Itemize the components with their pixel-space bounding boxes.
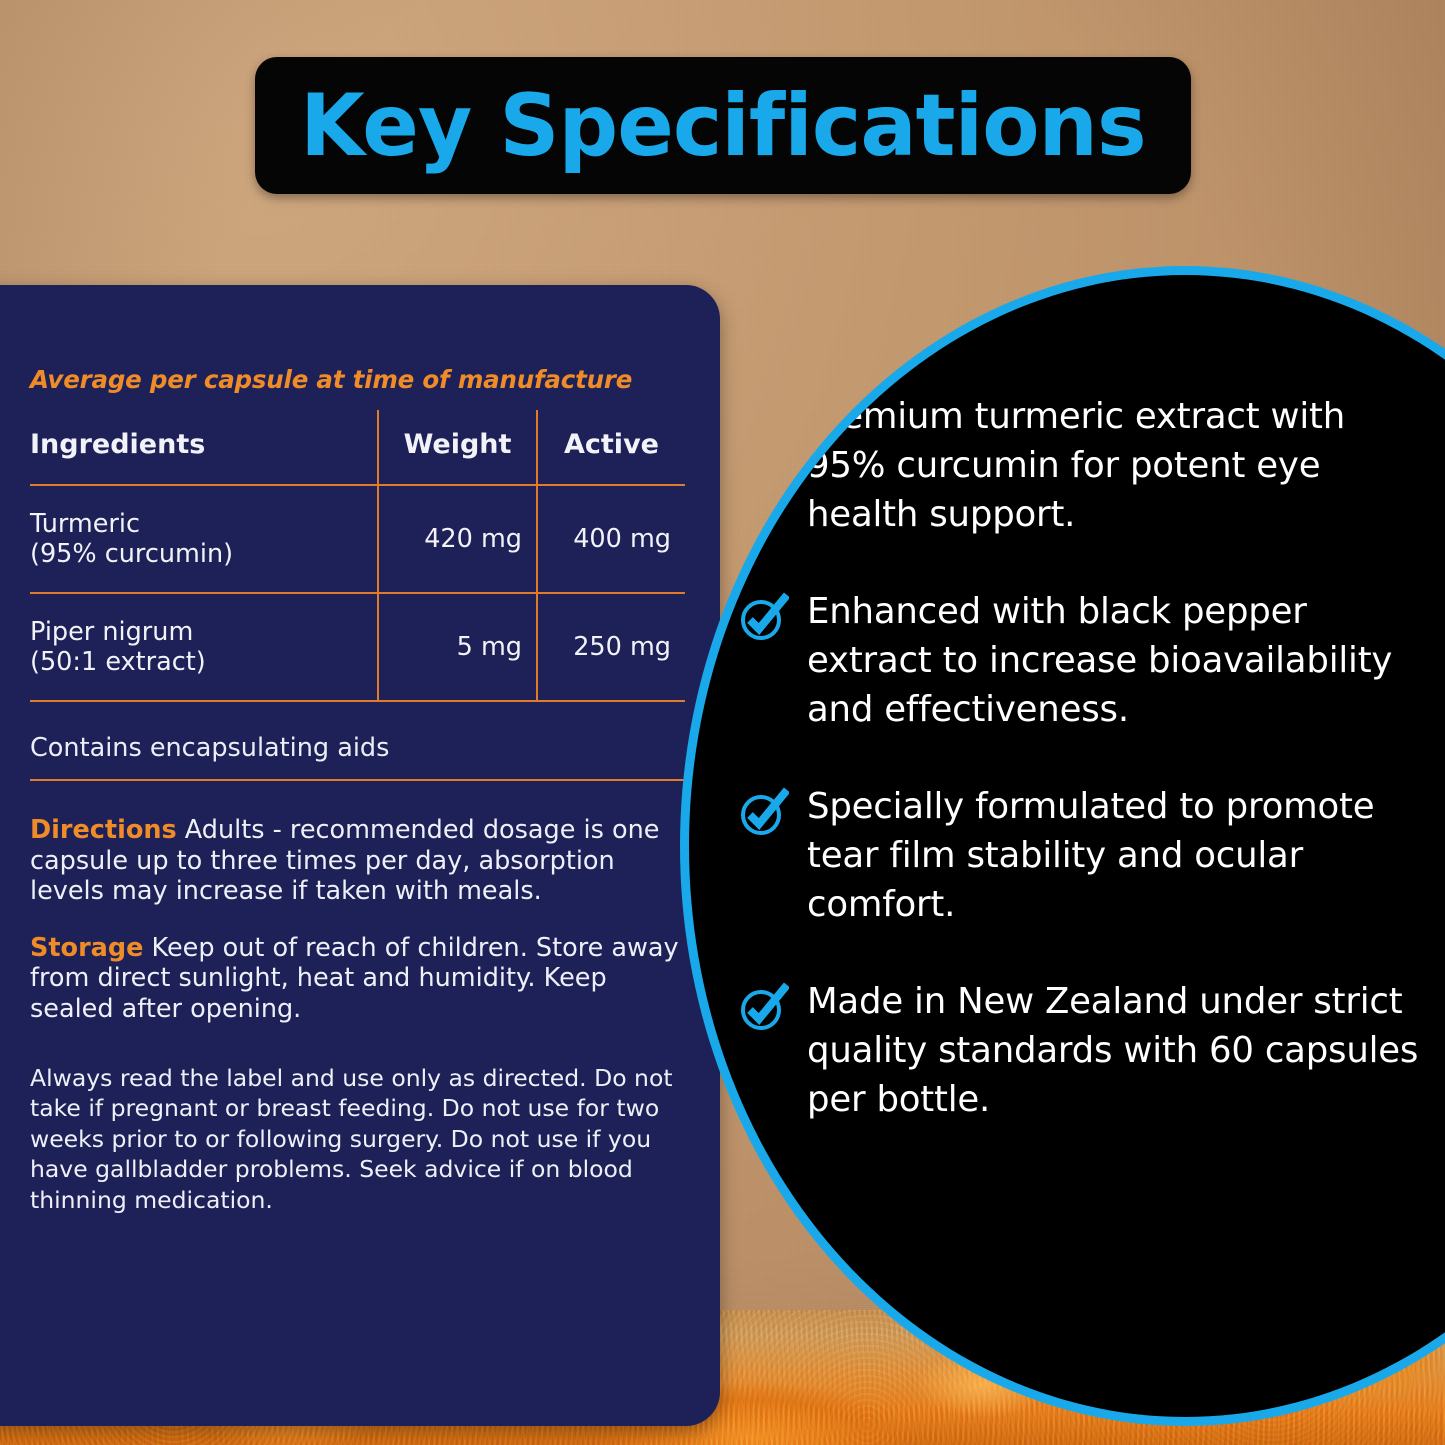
average-per-capsule-note: Average per capsule at time of manufactu…: [30, 365, 632, 394]
check-circle-icon: [737, 592, 789, 644]
warnings-paragraph: Always read the label and use only as di…: [30, 1063, 690, 1216]
storage-paragraph: Storage Keep out of reach of children. S…: [30, 933, 690, 1025]
column-header-active: Active: [537, 410, 685, 485]
cell-ingredient: Piper nigrum (50:1 extract): [30, 593, 378, 701]
ingredient-name: Turmeric: [30, 509, 140, 539]
infographic-canvas: Key Specifications Average per capsule a…: [0, 0, 1445, 1445]
ingredient-name: Piper nigrum: [30, 617, 193, 647]
cell-active: 400 mg: [537, 485, 685, 593]
check-circle-icon: [737, 982, 789, 1034]
ingredients-table: Ingredients Weight Active Turmeric (95% …: [30, 410, 685, 702]
table-row: Turmeric (95% curcumin) 420 mg 400 mg: [30, 485, 685, 593]
storage-label: Storage: [30, 933, 143, 963]
benefit-text: Specially formulated to promote tear fil…: [807, 783, 1427, 930]
directions-paragraph: Directions Adults - recommended dosage i…: [30, 815, 690, 907]
ingredient-detail: (95% curcumin): [30, 539, 377, 569]
table-header-row: Ingredients Weight Active: [30, 410, 685, 485]
table-footnote: Contains encapsulating aids: [30, 717, 685, 781]
benefit-text: Made in New Zealand under strict quality…: [807, 978, 1427, 1125]
column-header-ingredients: Ingredients: [30, 410, 378, 485]
list-item: Specially formulated to promote tear fil…: [737, 783, 1427, 930]
supplement-facts-card: Average per capsule at time of manufactu…: [0, 285, 720, 1426]
benefit-text: Enhanced with black pepper extract to in…: [807, 588, 1427, 735]
check-circle-icon: [737, 397, 789, 449]
column-header-weight: Weight: [378, 410, 537, 485]
usage-copy-block: Directions Adults - recommended dosage i…: [30, 815, 690, 1215]
header-banner: Key Specifications: [255, 57, 1191, 194]
cell-weight: 5 mg: [378, 593, 537, 701]
cell-weight: 420 mg: [378, 485, 537, 593]
supplement-facts-content: Average per capsule at time of manufactu…: [30, 285, 685, 1426]
directions-label: Directions: [30, 815, 177, 845]
benefits-list: Premium turmeric extract with 95% curcum…: [737, 393, 1427, 1125]
check-circle-icon: [737, 787, 789, 839]
table-row: Piper nigrum (50:1 extract) 5 mg 250 mg: [30, 593, 685, 701]
list-item: Premium turmeric extract with 95% curcum…: [737, 393, 1427, 540]
list-item: Made in New Zealand under strict quality…: [737, 978, 1427, 1125]
cell-ingredient: Turmeric (95% curcumin): [30, 485, 378, 593]
cell-active: 250 mg: [537, 593, 685, 701]
page-title: Key Specifications: [300, 83, 1146, 169]
benefit-text: Premium turmeric extract with 95% curcum…: [807, 393, 1427, 540]
list-item: Enhanced with black pepper extract to in…: [737, 588, 1427, 735]
ingredient-detail: (50:1 extract): [30, 647, 377, 677]
